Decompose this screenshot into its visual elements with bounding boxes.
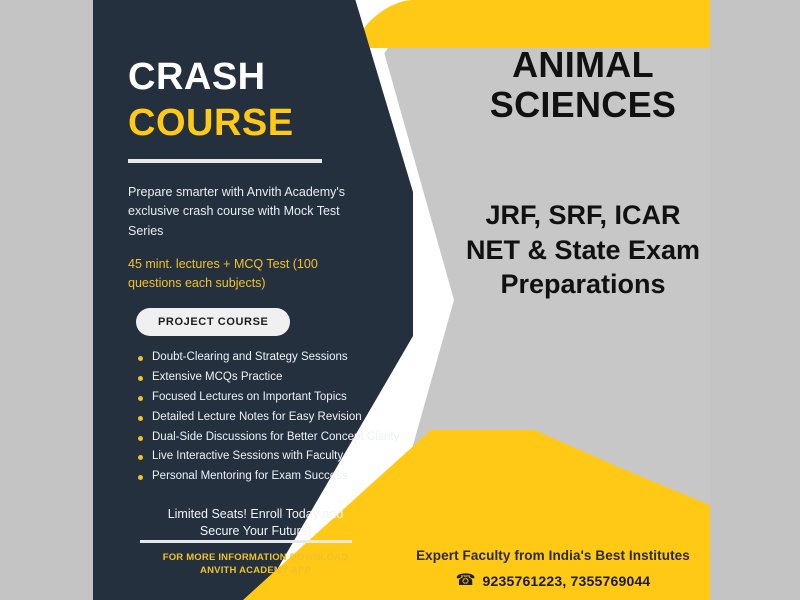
headline-line-crash: CRASH <box>128 58 418 98</box>
project-course-button[interactable]: PROJECT COURSE <box>136 308 290 336</box>
poster-root: CRASH COURSE Prepare smarter with Anvith… <box>0 0 800 600</box>
contact-phone-numbers[interactable]: 9235761223, 7355769044 <box>483 573 651 589</box>
highlight-lecture-info: 45 mint. lectures + MCQ Test (100 questi… <box>128 255 366 293</box>
telephone-icon: ☎ <box>456 573 476 589</box>
app-download-note: FOR MORE INFORMATION DOWNLOAD ANVITH ACA… <box>148 552 363 578</box>
list-item: Personal Mentoring for Exam Success <box>136 471 436 483</box>
page-title: ANIMAL SCIENCES <box>463 45 703 126</box>
cta-divider <box>140 540 352 543</box>
list-item: Focused Lectures on Important Topics <box>136 392 436 404</box>
list-item: Extensive MCQs Practice <box>136 372 436 384</box>
faculty-tagline: Expert Faculty from India's Best Institu… <box>393 548 710 563</box>
contact-row: ☎ 9235761223, 7355769044 <box>393 573 710 589</box>
headline-line-course: COURSE <box>128 104 418 144</box>
left-column: CRASH COURSE Prepare smarter with Anvith… <box>128 0 428 600</box>
flyer-canvas: CRASH COURSE Prepare smarter with Anvith… <box>93 0 710 600</box>
exam-list-text: JRF, SRF, ICAR NET & State Exam Preparat… <box>463 198 703 302</box>
list-item: Live Interactive Sessions with Faculty <box>136 451 436 463</box>
cta-limited-seats: Limited Seats! Enroll Today and Secure Y… <box>148 506 363 540</box>
subtext-description: Prepare smarter with Anvith Academy's ex… <box>128 183 358 241</box>
headline-divider <box>128 159 322 163</box>
list-item: Detailed Lecture Notes for Easy Revision <box>136 412 436 424</box>
feature-list: Doubt-Clearing and Strategy Sessions Ext… <box>136 352 436 491</box>
list-item: Dual-Side Discussions for Better Concept… <box>136 432 436 444</box>
headline: CRASH COURSE <box>128 58 418 144</box>
list-item: Doubt-Clearing and Strategy Sessions <box>136 352 436 364</box>
